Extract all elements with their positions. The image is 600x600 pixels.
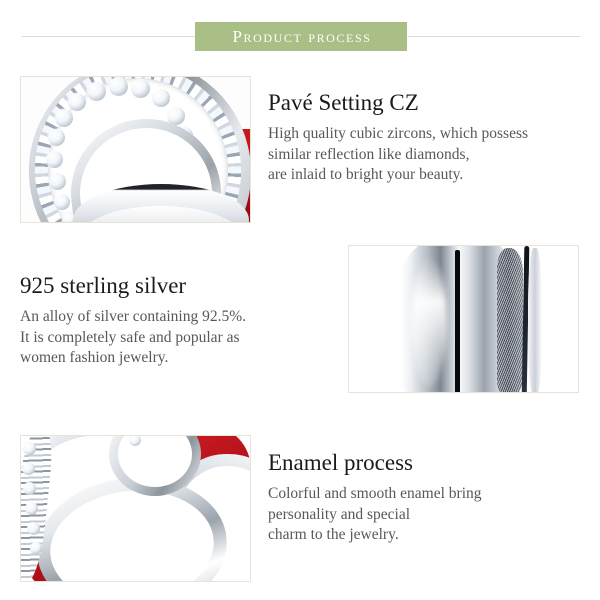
section-body-line: are inlaid to bright your beauty.: [268, 165, 528, 186]
product-photo-enamel-process: [20, 435, 251, 582]
cz-stone: [55, 109, 73, 127]
cz-stone: [131, 79, 150, 98]
cz-stone: [30, 542, 42, 554]
cz-stone: [87, 82, 106, 101]
header-rule-left: [22, 36, 195, 37]
product-photo-sterling-silver: [348, 245, 579, 393]
header-banner: Product process: [195, 22, 407, 51]
section-body-line: It is completely safe and popular as: [20, 328, 246, 349]
enamel-process-artwork: [21, 436, 250, 581]
page-title: Product process: [230, 28, 371, 45]
section-body-line: High quality cubic zircons, which posses…: [268, 124, 528, 145]
cz-stone: [22, 462, 35, 475]
specular-highlight: [411, 256, 447, 386]
cz-stone: [49, 173, 66, 190]
textured-side-strip: [497, 248, 523, 392]
dark-seam-line: [455, 250, 460, 392]
section-body-line: similar reflection like diamonds,: [268, 145, 528, 166]
cz-stone: [54, 194, 70, 210]
text-block-enamel-process: Enamel process Colorful and smooth ename…: [268, 450, 482, 546]
pave-setting-artwork: [21, 77, 250, 222]
section-heading: Enamel process: [268, 450, 482, 475]
sterling-silver-artwork: [349, 246, 578, 392]
page-header: Product process: [0, 22, 600, 52]
cz-stone: [27, 522, 40, 535]
cz-stone: [25, 502, 38, 515]
cz-stone: [68, 93, 86, 111]
section-body-line: Colorful and smooth enamel bring: [268, 484, 482, 505]
section-heading: Pavé Setting CZ: [268, 90, 528, 115]
cz-stone: [46, 151, 63, 168]
section-heading: 925 sterling silver: [20, 273, 246, 298]
header-rule-right: [408, 36, 580, 37]
section-body-line: personality and special: [268, 505, 482, 526]
text-block-925-sterling-silver: 925 sterling silver An alloy of silver c…: [20, 273, 246, 369]
section-body-line: women fashion jewelry.: [20, 348, 246, 369]
cz-stone: [23, 442, 36, 455]
cz-stone: [152, 89, 170, 107]
section-body-line: An alloy of silver containing 92.5%.: [20, 307, 246, 328]
section-body-line: charm to the jewelry.: [268, 525, 482, 546]
text-block-pave-setting-cz: Pavé Setting CZ High quality cubic zirco…: [268, 90, 528, 186]
product-photo-pave-setting: [20, 76, 251, 223]
cz-stone: [23, 482, 36, 495]
bright-outer-edge: [528, 248, 542, 392]
cz-stone: [109, 77, 128, 96]
cz-stone: [48, 129, 65, 146]
